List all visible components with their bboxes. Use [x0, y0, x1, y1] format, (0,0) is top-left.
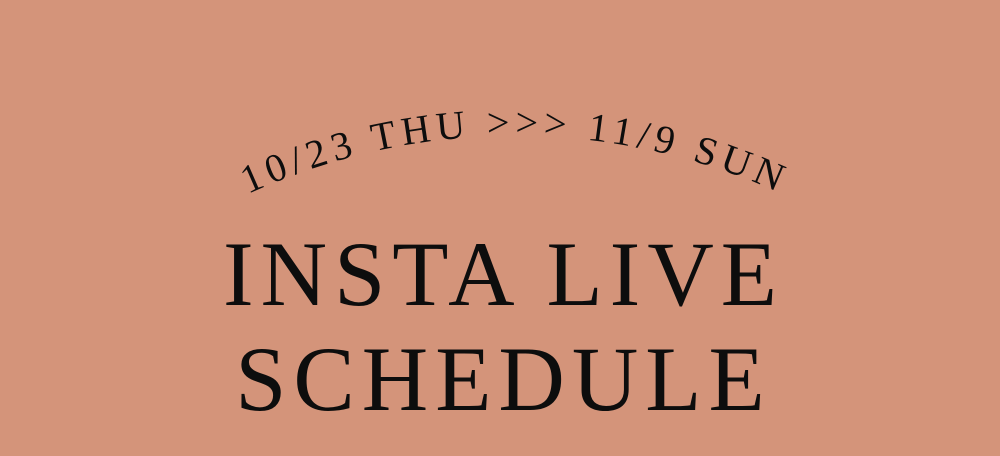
poster-canvas: 10/23 THU >>> 11/9 SUN INSTA LIVE SCHEDU…: [0, 0, 1000, 456]
date-banner-text: 10/23 THU >>> 11/9 SUN: [233, 100, 796, 203]
headline-line-schedule: SCHEDULE: [0, 333, 1000, 425]
headline-line-insta-live: INSTA LIVE: [0, 228, 1000, 320]
date-banner-arc-svg: 10/23 THU >>> 11/9 SUN: [0, 0, 1000, 240]
date-banner-textpath: 10/23 THU >>> 11/9 SUN: [233, 100, 796, 203]
date-banner: 10/23 THU >>> 11/9 SUN: [0, 0, 1000, 240]
